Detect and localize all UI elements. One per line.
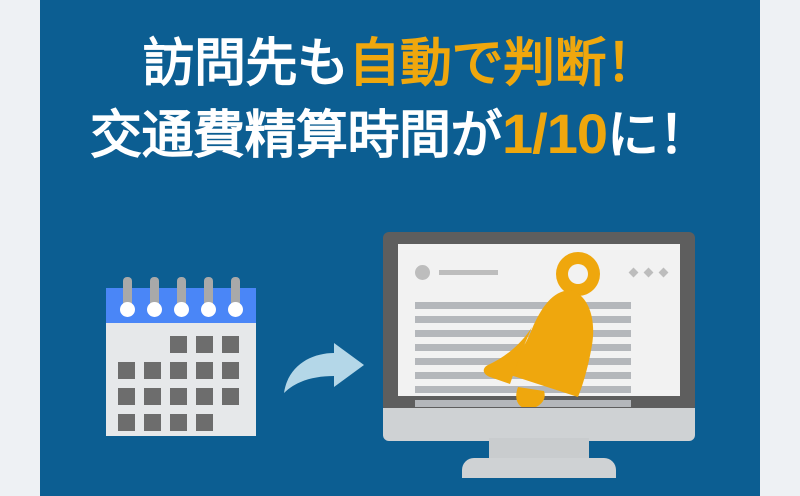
calendar-hole-5 [228, 302, 243, 317]
calendar-cell [144, 414, 161, 431]
calendar-cell [196, 336, 213, 353]
headline-line-1-white: 訪問先も [142, 35, 348, 93]
calendar-cell [170, 336, 187, 353]
curved-right-arrow-icon [282, 343, 366, 397]
calendar-cell [144, 388, 161, 405]
calendar-cell [118, 388, 135, 405]
notification-bell-icon [470, 247, 615, 407]
user-avatar [415, 265, 430, 280]
headline-line-2: 交通費精算時間が1/10に！ [40, 106, 760, 162]
calendar-hole-1 [120, 302, 135, 317]
calendar-cell [222, 336, 239, 353]
menu-dot-icon [629, 268, 639, 278]
menu-dot-icon [644, 268, 654, 278]
monitor-chin [383, 408, 695, 441]
calendar-cell [144, 362, 161, 379]
calendar-cell [196, 414, 213, 431]
calendar-cell [222, 362, 239, 379]
calendar-cell [118, 414, 135, 431]
calendar-cell [170, 362, 187, 379]
calendar-cell [196, 388, 213, 405]
headline-line-1-gold: 自動で判断！ [349, 35, 658, 93]
headline-block: 訪問先も自動で判断！ 交通費精算時間が1/10に！ [40, 38, 760, 162]
monitor-stand-foot [462, 458, 616, 478]
calendar-cell [118, 362, 135, 379]
calendar-hole-3 [174, 302, 189, 317]
calendar-icon [106, 288, 256, 436]
calendar-cell [222, 388, 239, 405]
headline-line-2-number: 1/10 [502, 102, 607, 165]
menu-dot-icon [659, 268, 669, 278]
calendar-cell [196, 362, 213, 379]
headline-line-2-white-2: に！ [607, 107, 710, 165]
promo-banner: 訪問先も自動で判断！ 交通費精算時間が1/10に！ [0, 0, 800, 496]
headline-line-1: 訪問先も自動で判断！ [40, 38, 760, 90]
calendar-hole-4 [201, 302, 216, 317]
calendar-cell [170, 388, 187, 405]
calendar-cell [170, 414, 187, 431]
headline-line-2-white-1: 交通費精算時間が [90, 107, 502, 165]
calendar-hole-2 [147, 302, 162, 317]
